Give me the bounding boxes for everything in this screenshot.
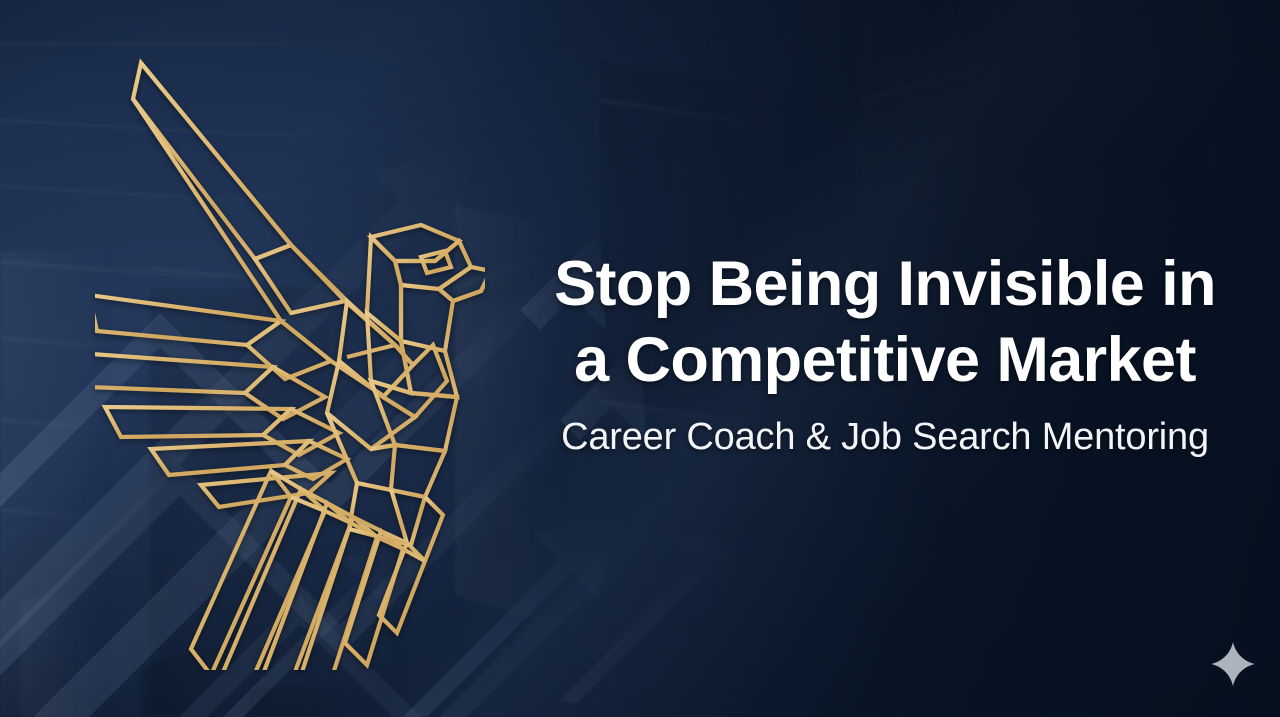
page-title: Stop Being Invisible in a Competitive Ma… — [540, 246, 1230, 398]
presentation-slide: Stop Being Invisible in a Competitive Ma… — [0, 0, 1280, 717]
phoenix-logo — [95, 45, 485, 670]
sparkle-icon — [1210, 641, 1256, 687]
page-subtitle: Career Coach & Job Search Mentoring — [540, 414, 1230, 460]
sparkle-decoration — [1210, 641, 1256, 687]
slide-text-block: Stop Being Invisible in a Competitive Ma… — [540, 246, 1230, 460]
phoenix-eagle-icon — [95, 45, 485, 670]
